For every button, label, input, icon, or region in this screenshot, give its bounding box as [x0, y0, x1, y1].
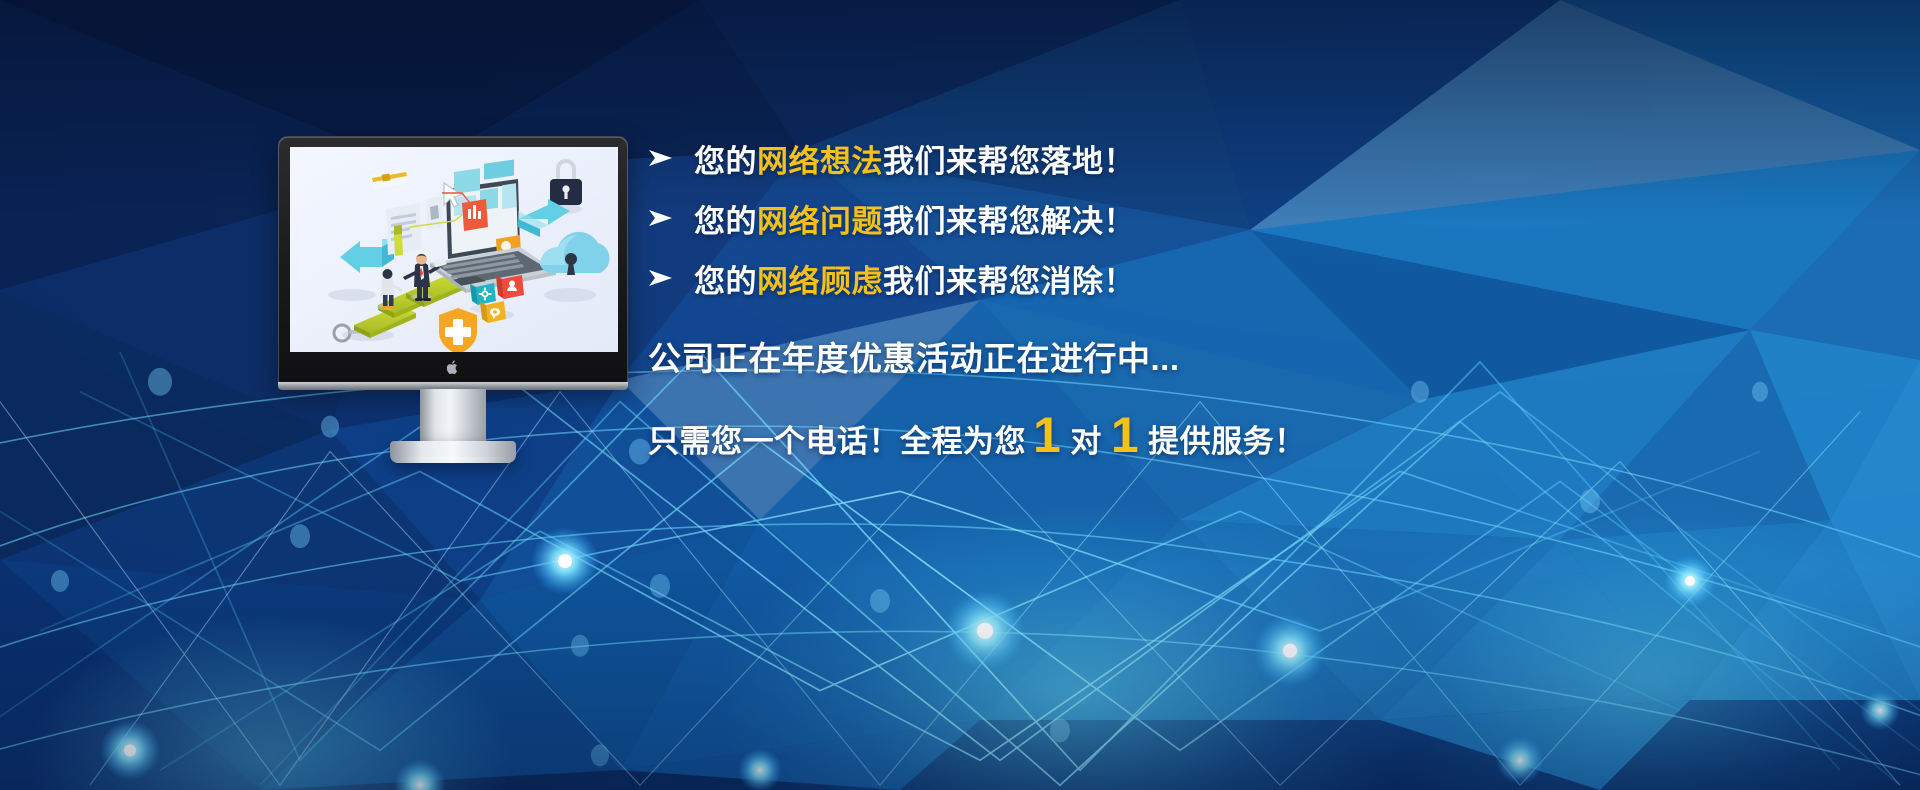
bullet-2-suffix: 我们来帮您解决！	[883, 204, 1135, 239]
cta-number-one-first: 1	[1026, 410, 1068, 460]
bullet-3-suffix: 我们来帮您消除！	[883, 264, 1135, 299]
monitor-stand-foot	[390, 441, 516, 463]
bullet-row-2: 您的网络问题我们来帮您解决！	[648, 188, 1748, 248]
monitor-bezel	[278, 136, 628, 384]
bullet-row-1: 您的网络想法我们来帮您落地！	[648, 128, 1748, 188]
arrow-bullet-icon	[648, 208, 694, 228]
isometric-network-security-illustration	[290, 147, 618, 352]
bullet-text-2: 您的网络问题我们来帮您解决！	[694, 196, 1135, 241]
app-tile-user	[496, 275, 524, 299]
copy-block: 您的网络想法我们来帮您落地！ 您的网络问题我们来帮您解决！ 您的网络顾虑我们来帮…	[648, 128, 1748, 461]
bullet-1-highlight: 网络想法	[757, 144, 883, 179]
shield-icon	[436, 305, 480, 352]
monitor-screen	[290, 147, 618, 352]
bullet-2-prefix: 您的	[694, 204, 757, 239]
cta-number-one-second: 1	[1104, 410, 1146, 460]
bullet-2-highlight: 网络问题	[757, 204, 883, 239]
arrow-bullet-icon	[648, 268, 694, 288]
cta-tail: 提供服务！	[1146, 416, 1308, 461]
promo-banner: 您的网络想法我们来帮您落地！ 您的网络问题我们来帮您解决！ 您的网络顾虑我们来帮…	[0, 0, 1920, 790]
bullet-text-1: 您的网络想法我们来帮您落地！	[694, 136, 1135, 181]
bullet-3-prefix: 您的	[694, 264, 757, 299]
document-icon	[386, 203, 422, 256]
cta-middle: 对	[1068, 416, 1104, 461]
bullet-row-3: 您的网络顾虑我们来帮您消除！	[648, 248, 1748, 308]
arrow-bullet-icon	[648, 148, 694, 168]
bullet-3-highlight: 网络顾虑	[757, 264, 883, 299]
bullet-1-prefix: 您的	[694, 144, 757, 179]
bullet-1-suffix: 我们来帮您落地！	[883, 144, 1135, 179]
promo-line: 公司正在年度优惠活动正在进行中...	[648, 332, 1748, 380]
imac-monitor	[278, 136, 628, 466]
app-tile-gear	[470, 283, 496, 305]
monitor-stand-neck	[420, 389, 486, 447]
apple-logo-icon	[447, 360, 460, 375]
cta-lead: 只需您一个电话！全程为您	[648, 416, 1026, 461]
bullet-text-3: 您的网络顾虑我们来帮您消除！	[694, 256, 1135, 301]
call-to-action-line: 只需您一个电话！全程为您 1 对 1 提供服务！	[648, 410, 1748, 461]
app-tile-chat	[480, 301, 506, 323]
